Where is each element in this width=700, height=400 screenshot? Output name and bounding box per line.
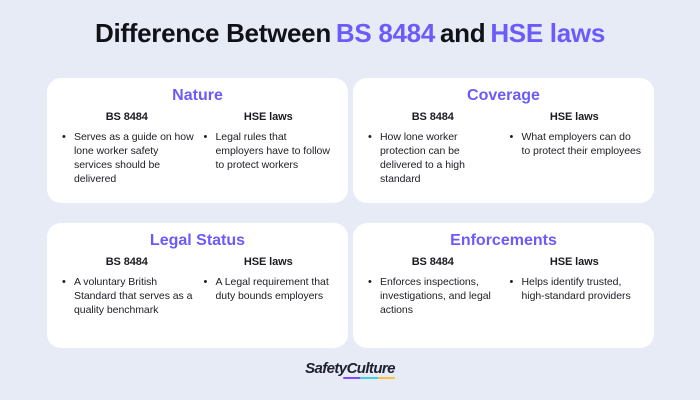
card-column-hse-laws: HSE laws A Legal requirement that duty b… [201, 255, 337, 317]
list-item: Serves as a guide on how lone worker saf… [72, 130, 195, 186]
column-header: BS 8484 [365, 110, 501, 124]
card-title: Legal Status [59, 231, 336, 251]
card-column-bs8484: BS 8484 A voluntary British Standard tha… [59, 255, 195, 317]
comparison-card-enforcements: Enforcements BS 8484 Enforces inspection… [353, 223, 654, 348]
bullet-list: What employers can do to protect their e… [507, 130, 643, 158]
card-columns: BS 8484 Enforces inspections, investigat… [365, 255, 642, 317]
card-column-bs8484: BS 8484 Enforces inspections, investigat… [365, 255, 501, 317]
list-item: A Legal requirement that duty bounds emp… [214, 275, 337, 303]
card-column-hse-laws: HSE laws Helps identify trusted, high-st… [507, 255, 643, 317]
bullet-list: Serves as a guide on how lone worker saf… [59, 130, 195, 186]
logo-underline-segment-purple [343, 377, 360, 380]
logo-underline-segment-cyan [360, 377, 377, 380]
bullet-list: Enforces inspections, investigations, an… [365, 275, 501, 317]
column-header: BS 8484 [365, 255, 501, 269]
comparison-card-legal-status: Legal Status BS 8484 A voluntary British… [47, 223, 348, 348]
bullet-list: Helps identify trusted, high-standard pr… [507, 275, 643, 303]
card-columns: BS 8484 Serves as a guide on how lone wo… [59, 110, 336, 186]
logo-word-safety: Safety [305, 360, 346, 377]
page-title-accent-hse: HSE laws [490, 18, 605, 48]
column-header: HSE laws [201, 255, 337, 269]
page-title: Difference BetweenBS 8484andHSE laws [0, 18, 700, 49]
card-title: Enforcements [365, 231, 642, 251]
logo-underline-icon [343, 377, 395, 380]
column-header: HSE laws [507, 110, 643, 124]
column-header: HSE laws [507, 255, 643, 269]
footer: SafetyCulture [0, 360, 700, 378]
card-title: Coverage [365, 86, 642, 106]
page-title-part2: and [440, 18, 485, 48]
bullet-list: Legal rules that employers have to follo… [201, 130, 337, 172]
comparison-card-grid: Nature BS 8484 Serves as a guide on how … [47, 78, 653, 348]
card-title: Nature [59, 86, 336, 106]
card-column-bs8484: BS 8484 How lone worker protection can b… [365, 110, 501, 186]
list-item: Enforces inspections, investigations, an… [378, 275, 501, 317]
page-title-accent-bs8484: BS 8484 [336, 18, 435, 48]
comparison-card-coverage: Coverage BS 8484 How lone worker protect… [353, 78, 654, 203]
bullet-list: A Legal requirement that duty bounds emp… [201, 275, 337, 303]
card-columns: BS 8484 How lone worker protection can b… [365, 110, 642, 186]
list-item: A voluntary British Standard that serves… [72, 275, 195, 317]
column-header: HSE laws [201, 110, 337, 124]
list-item: What employers can do to protect their e… [520, 130, 643, 158]
bullet-list: How lone worker protection can be delive… [365, 130, 501, 186]
card-column-bs8484: BS 8484 Serves as a guide on how lone wo… [59, 110, 195, 186]
card-columns: BS 8484 A voluntary British Standard tha… [59, 255, 336, 317]
list-item: How lone worker protection can be delive… [378, 130, 501, 186]
logo-word-culture: Culture [347, 360, 395, 377]
card-column-hse-laws: HSE laws What employers can do to protec… [507, 110, 643, 186]
comparison-card-nature: Nature BS 8484 Serves as a guide on how … [47, 78, 348, 203]
list-item: Legal rules that employers have to follo… [214, 130, 337, 172]
column-header: BS 8484 [59, 110, 195, 124]
safetyculture-logo: SafetyCulture [305, 360, 395, 377]
logo-underline-segment-yellow [378, 377, 395, 380]
page-title-part1: Difference Between [95, 18, 331, 48]
infographic-page: Difference BetweenBS 8484andHSE laws Nat… [0, 0, 700, 400]
list-item: Helps identify trusted, high-standard pr… [520, 275, 643, 303]
card-column-hse-laws: HSE laws Legal rules that employers have… [201, 110, 337, 186]
bullet-list: A voluntary British Standard that serves… [59, 275, 195, 317]
column-header: BS 8484 [59, 255, 195, 269]
